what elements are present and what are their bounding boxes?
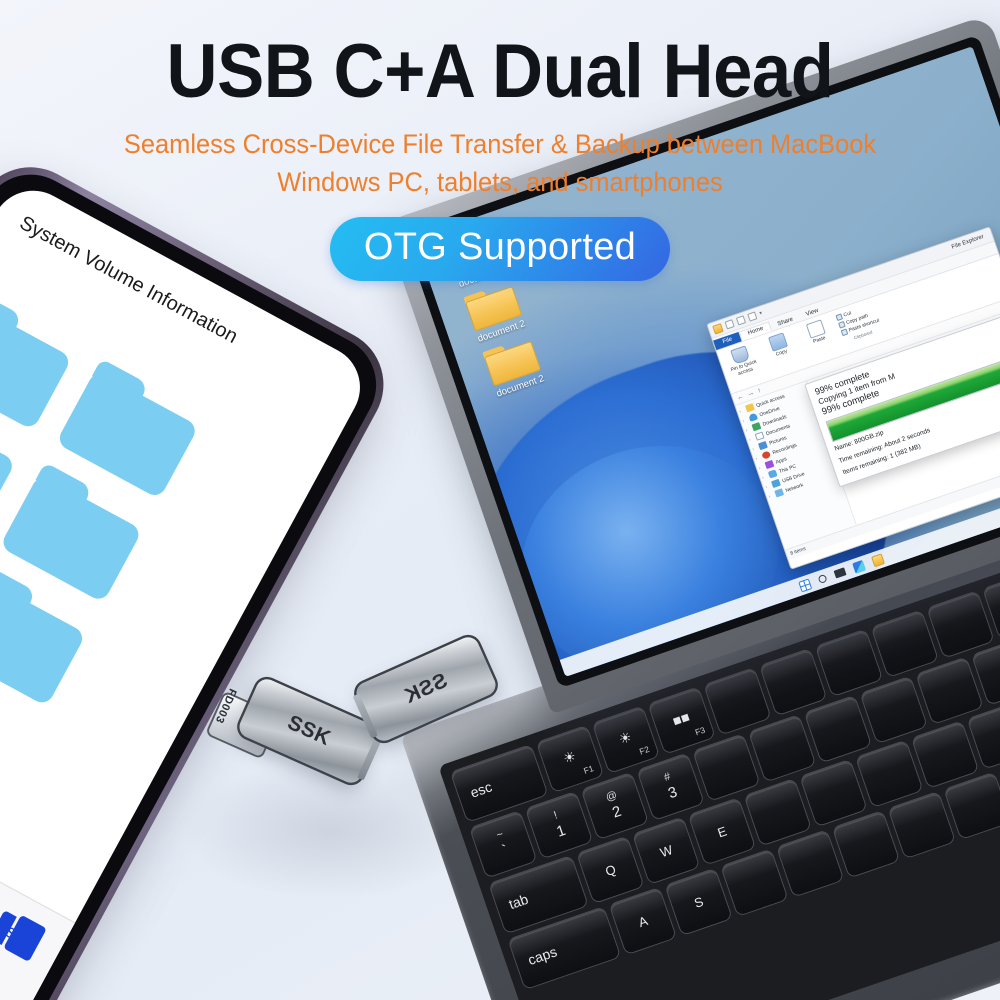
folder-icon[interactable] bbox=[0, 290, 79, 431]
copy-path-icon bbox=[838, 321, 846, 329]
key-w[interactable]: W bbox=[633, 818, 699, 884]
brightness-high-icon: ☀ bbox=[616, 728, 633, 748]
cloud-icon bbox=[748, 413, 758, 422]
file-explorer-icon[interactable] bbox=[871, 553, 885, 567]
key-1[interactable]: ! 1 bbox=[526, 792, 592, 858]
key-5[interactable] bbox=[749, 715, 815, 781]
key-backtick[interactable]: ~ ` bbox=[470, 811, 536, 877]
chevron-right-icon[interactable]: › bbox=[755, 455, 760, 461]
key-2[interactable]: @ 2 bbox=[582, 773, 648, 839]
search-icon[interactable] bbox=[818, 574, 828, 584]
phone-tab-bar[interactable]: Recents Shared Browse bbox=[0, 728, 75, 1000]
key-t[interactable] bbox=[800, 760, 866, 826]
folder-browse-icon bbox=[0, 878, 59, 935]
chevron-right-icon[interactable]: › bbox=[758, 465, 763, 471]
key-d[interactable] bbox=[721, 850, 787, 916]
key-f7[interactable] bbox=[872, 611, 938, 677]
key-q[interactable]: Q bbox=[577, 837, 643, 903]
key-a[interactable]: A bbox=[610, 888, 676, 954]
chevron-right-icon[interactable]: › bbox=[745, 427, 750, 433]
pin-to-quick-access-button[interactable]: Pin to Quick access bbox=[721, 342, 763, 381]
key-r[interactable] bbox=[745, 779, 811, 845]
tab-browse[interactable]: Browse bbox=[0, 878, 59, 963]
key-f1[interactable]: ☀ F1 bbox=[537, 726, 603, 792]
key-f[interactable] bbox=[777, 830, 843, 896]
key-label: tab bbox=[507, 891, 531, 912]
key-label-lower: 1 bbox=[555, 823, 568, 841]
app-icon bbox=[764, 460, 774, 469]
key-label-lower: 2 bbox=[610, 804, 623, 822]
brightness-low-icon: ☀ bbox=[561, 747, 578, 767]
key-label: E bbox=[715, 823, 728, 840]
key-label: F3 bbox=[694, 725, 707, 738]
clipboard-small-buttons[interactable]: Cut Copy path Paste shortcut bbox=[835, 301, 883, 344]
key-8[interactable] bbox=[916, 658, 982, 724]
key-s[interactable]: S bbox=[666, 869, 732, 935]
pc-icon bbox=[768, 470, 778, 479]
key-label: esc bbox=[468, 778, 494, 800]
windows-start-icon[interactable] bbox=[798, 578, 812, 592]
chevron-down-icon[interactable]: ▾ bbox=[759, 311, 763, 317]
usb-icon bbox=[771, 479, 781, 488]
key-label-lower: 3 bbox=[666, 784, 679, 802]
chevron-right-icon[interactable]: › bbox=[768, 493, 773, 499]
task-view-icon[interactable] bbox=[834, 567, 847, 578]
key-f5[interactable] bbox=[760, 649, 826, 715]
chevron-right-icon[interactable]: › bbox=[752, 446, 757, 452]
key-e[interactable]: E bbox=[689, 798, 755, 864]
key-label-upper: # bbox=[663, 772, 673, 785]
key-f4[interactable] bbox=[704, 668, 770, 734]
key-label: S bbox=[692, 893, 705, 910]
key-label: W bbox=[658, 842, 674, 860]
key-h[interactable] bbox=[889, 792, 955, 858]
key-6[interactable] bbox=[805, 696, 871, 762]
forward-arrow-icon[interactable]: → bbox=[746, 390, 755, 399]
key-label: Q bbox=[603, 861, 617, 878]
chevron-right-icon[interactable]: › bbox=[765, 484, 770, 490]
key-f8[interactable] bbox=[928, 591, 994, 657]
save-quick-access-icon[interactable] bbox=[724, 320, 734, 330]
key-u[interactable] bbox=[912, 722, 978, 788]
key-label: caps bbox=[526, 943, 559, 968]
properties-quick-access-icon[interactable] bbox=[747, 312, 757, 322]
up-arrow-icon[interactable]: ↑ bbox=[757, 387, 763, 395]
product-marketing-image: USB C+A Dual Head Seamless Cross-Device … bbox=[0, 0, 1000, 1000]
chevron-right-icon[interactable]: › bbox=[739, 408, 744, 414]
folder-icon[interactable] bbox=[0, 462, 149, 603]
star-icon bbox=[745, 404, 755, 413]
button-label: Pin to Quick access bbox=[727, 359, 763, 381]
chevron-right-icon[interactable]: › bbox=[761, 474, 766, 480]
key-y[interactable] bbox=[856, 741, 922, 807]
undo-quick-access-icon[interactable] bbox=[736, 316, 746, 326]
widgets-icon[interactable] bbox=[852, 559, 866, 573]
nav-item-label: Network bbox=[785, 482, 804, 494]
paste-button[interactable]: Paste bbox=[797, 316, 837, 350]
download-icon bbox=[751, 422, 761, 431]
key-f3[interactable]: ■■ F3 bbox=[649, 687, 715, 753]
folder-icon[interactable] bbox=[56, 359, 206, 500]
key-g[interactable] bbox=[833, 811, 899, 877]
mission-control-icon: ■■ bbox=[670, 708, 691, 729]
key-3[interactable]: # 3 bbox=[638, 754, 704, 820]
key-f6[interactable] bbox=[816, 630, 882, 696]
key-label: A bbox=[636, 913, 649, 930]
key-label: F1 bbox=[582, 763, 595, 776]
laptop-screen: document 1 document 2 document 2 bbox=[403, 35, 1000, 689]
file-explorer-icon bbox=[712, 323, 723, 334]
key-4[interactable] bbox=[693, 734, 759, 800]
key-7[interactable] bbox=[861, 677, 927, 743]
pictures-icon bbox=[758, 441, 768, 450]
key-label-upper: ! bbox=[553, 811, 560, 823]
key-label-lower: ` bbox=[501, 842, 511, 859]
network-icon bbox=[774, 489, 784, 498]
nav-item-label: Apps bbox=[775, 456, 788, 465]
record-icon bbox=[761, 451, 771, 460]
paste-shortcut-icon bbox=[841, 329, 849, 337]
chevron-right-icon[interactable]: › bbox=[748, 436, 753, 442]
chevron-right-icon[interactable]: › bbox=[742, 417, 747, 423]
copy-button[interactable]: Copy bbox=[759, 329, 799, 363]
key-label-upper: ~ bbox=[495, 829, 505, 842]
key-j[interactable] bbox=[944, 773, 1000, 839]
key-label: F2 bbox=[638, 744, 651, 757]
document-icon bbox=[755, 432, 765, 441]
back-arrow-icon[interactable]: ← bbox=[736, 393, 745, 402]
scissors-icon bbox=[835, 314, 843, 322]
key-f2[interactable]: ☀ F2 bbox=[593, 707, 659, 773]
windows-desktop[interactable]: document 1 document 2 document 2 bbox=[414, 46, 1000, 677]
status-item-count: 8 items bbox=[790, 546, 807, 557]
